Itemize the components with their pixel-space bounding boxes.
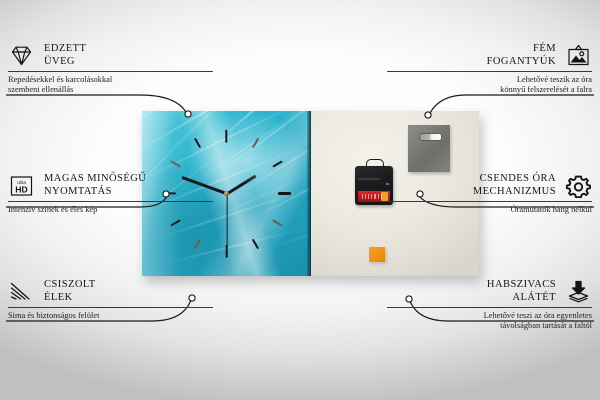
- feature-tempered-glass: Edzett üveg Repedésekkel és karcolásokka…: [8, 42, 213, 96]
- battery-stripe: [365, 194, 366, 199]
- clock-tick: [272, 219, 282, 226]
- feature-title-metal-handles: Fém fogantyúk: [487, 43, 556, 68]
- feature-description-polished-edges: Sima és biztonságos felület: [8, 311, 213, 321]
- clock-tick: [225, 244, 227, 257]
- foam-press-icon: [565, 278, 592, 305]
- feature-header-high-quality-print: ultra HD Magas minőségű nyomtatás: [8, 172, 213, 199]
- feature-divider-silent-mechanism: [387, 201, 592, 202]
- feature-title-tempered-glass: Edzett üveg: [44, 43, 86, 68]
- clock-tick: [194, 138, 201, 148]
- feature-metal-handles: Fém fogantyúk Lehetővé teszik az óra kön…: [387, 42, 592, 96]
- battery-stripe: [371, 194, 372, 199]
- feature-polished-edges: Csiszolt élek Sima és biztonságos felüle…: [8, 278, 213, 321]
- feature-description-foam-backing: Lehetővé teszi az óra egyenletes távolsá…: [387, 311, 592, 332]
- feature-description-metal-handles: Lehetővé teszik az óra könnyű felszerelé…: [387, 75, 592, 96]
- feather-streak: [150, 111, 266, 168]
- feature-description-silent-mechanism: Óramutatók hang nélkül: [387, 205, 592, 215]
- feather-streak: [142, 111, 280, 155]
- polished-edges-icon: [8, 278, 35, 305]
- battery-stripe: [381, 194, 382, 199]
- feature-header-metal-handles: Fém fogantyúk: [387, 42, 592, 69]
- feature-header-silent-mechanism: Csendes óra mechanizmus: [387, 172, 592, 199]
- feature-title-foam-backing: Habszivacs alátét: [487, 279, 556, 304]
- clock-tick: [194, 239, 201, 249]
- feature-title-silent-mechanism: Csendes óra mechanizmus: [473, 173, 556, 198]
- feature-title-high-quality-print: Magas minőségű nyomtatás: [44, 173, 146, 198]
- feature-silent-mechanism: Csendes óra mechanizmus Óramutatók hang …: [387, 172, 592, 215]
- feature-divider-polished-edges: [8, 307, 213, 308]
- battery-stripe: [362, 194, 363, 199]
- gear-icon: [565, 172, 592, 199]
- feature-header-tempered-glass: Edzett üveg: [8, 42, 213, 69]
- battery-stripe: [368, 194, 369, 199]
- aa-battery: [358, 191, 390, 202]
- foam-spacer-pad: [369, 247, 385, 262]
- feature-high-quality-print: ultra HD Magas minőségű nyomtatás Intenz…: [8, 172, 213, 215]
- battery-stripe: [374, 194, 375, 199]
- feature-header-foam-backing: Habszivacs alátét: [387, 278, 592, 305]
- feature-description-tempered-glass: Repedésekkel és karcolásokkal szembeni e…: [8, 75, 213, 96]
- battery-stripe: [378, 194, 379, 199]
- second-hand: [226, 194, 227, 246]
- infographic-canvas: Edzett üveg Repedésekkel és karcolásokka…: [0, 0, 600, 400]
- feature-foam-backing: Habszivacs alátét Lehetővé teszi az óra …: [387, 278, 592, 332]
- feature-header-polished-edges: Csiszolt élek: [8, 278, 213, 305]
- hand-center-cap: [224, 191, 229, 196]
- feather-streak: [162, 227, 308, 265]
- feature-description-high-quality-print: Intenzív színek és éles kép: [8, 205, 213, 215]
- leader-line-tempered-glass: [6, 95, 186, 112]
- clock-tick: [171, 219, 181, 226]
- mechanism-seam: [358, 178, 380, 180]
- picture-frame-hanger-icon: [565, 42, 592, 69]
- metal-hanger-bracket: [408, 125, 450, 172]
- svg-text:HD: HD: [15, 184, 27, 194]
- feature-divider-tempered-glass: [8, 71, 213, 72]
- feature-divider-foam-backing: [387, 307, 592, 308]
- diamond-icon: [8, 42, 35, 69]
- ultra-hd-icon: ultra HD: [8, 172, 35, 199]
- feature-divider-metal-handles: [387, 71, 592, 72]
- feature-title-polished-edges: Csiszolt élek: [44, 279, 96, 304]
- bracket-keyhole-slot: [419, 133, 442, 141]
- feature-divider-high-quality-print: [8, 201, 213, 202]
